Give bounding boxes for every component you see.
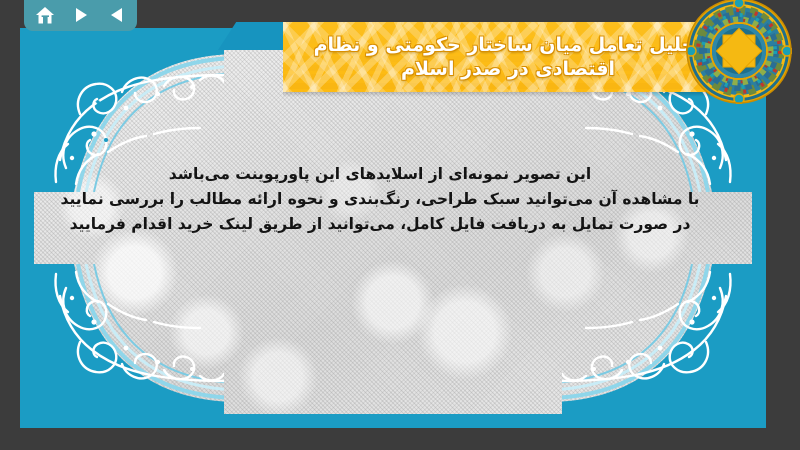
slide-canvas: این تصویر نمونه‌ای از اسلایدهای این پاور… (0, 0, 800, 450)
arabesque-corner-ornament (562, 264, 752, 414)
slide-content-area: این تصویر نمونه‌ای از اسلایدهای این پاور… (34, 42, 752, 414)
slide-title: تحلیل تعامل میان ساختار حکومتی و نظام اق… (283, 22, 753, 92)
body-line-1: این تصویر نمونه‌ای از اسلایدهای این پاور… (34, 162, 726, 187)
next-button[interactable] (70, 4, 92, 26)
navigation-bar (24, 0, 137, 31)
home-button[interactable] (34, 4, 56, 26)
title-line-2: اقتصادی در صدر اسلام (401, 57, 615, 81)
body-line-2: با مشاهده آن می‌توانید سبک طراحی، رنگ‌بن… (34, 187, 726, 212)
body-line-3: در صورت تمایل به دریافت فایل کامل، می‌تو… (34, 212, 726, 237)
slide-body-text: این تصویر نمونه‌ای از اسلایدهای این پاور… (34, 162, 726, 237)
circular-mosaic-medallion-icon (686, 0, 792, 104)
home-icon (35, 6, 55, 25)
triangle-left-icon (108, 6, 126, 24)
arabesque-corner-ornament (34, 264, 224, 414)
title-line-1: تحلیل تعامل میان ساختار حکومتی و نظام (314, 33, 703, 57)
triangle-right-icon (72, 6, 90, 24)
title-banner-tab (218, 22, 288, 50)
title-banner: تحلیل تعامل میان ساختار حکومتی و نظام اق… (283, 22, 753, 92)
previous-button[interactable] (106, 4, 128, 26)
